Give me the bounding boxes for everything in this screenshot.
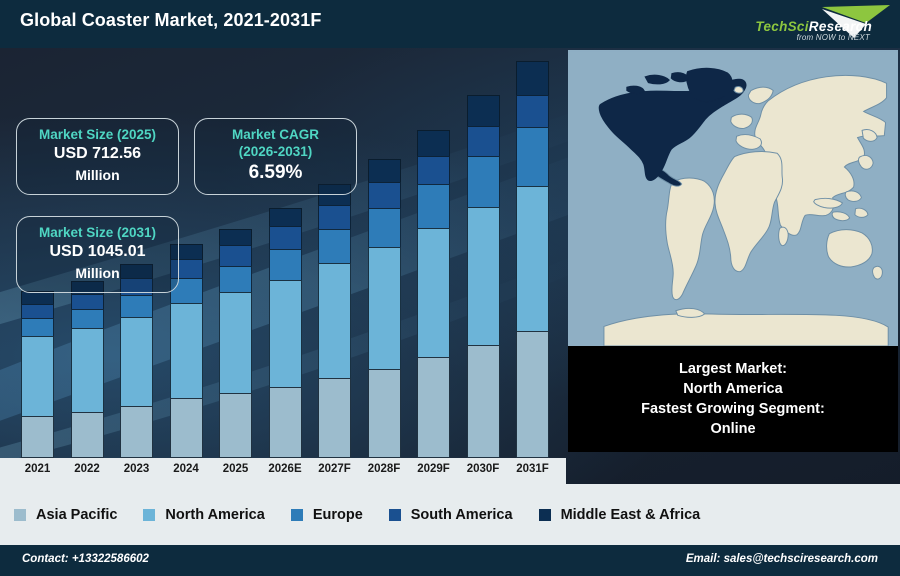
legend-item-north-america[interactable]: North America [143, 507, 264, 523]
fastest-segment-value: Online [710, 419, 755, 439]
bar-segment-north-america [318, 263, 351, 378]
legend-swatch-icon [389, 509, 401, 521]
bar-segment-asia-pacific [21, 416, 54, 458]
x-axis: 202120222023202420252026E2027F2028F2029F… [0, 458, 566, 484]
bar-segment-middle-east-africa [417, 130, 450, 157]
x-axis-label-2022: 2022 [61, 463, 113, 475]
bar-segment-europe [21, 318, 54, 336]
market-size-2031-card: Market Size (2031) USD 1045.01 Million [16, 216, 179, 293]
bar-2027F[interactable] [318, 184, 351, 458]
world-map-svg [568, 50, 898, 348]
legend-swatch-icon [291, 509, 303, 521]
bar-segment-middle-east-africa [467, 95, 500, 126]
bar-2028F[interactable] [368, 159, 401, 458]
card-label: Market Size (2025) [27, 126, 168, 143]
bar-segment-middle-east-africa [516, 61, 549, 95]
bar-segment-middle-east-africa [269, 208, 302, 226]
bar-2031F[interactable] [516, 61, 549, 458]
footer-contact: Contact: +13322586602 [22, 553, 149, 565]
bar-segment-south-america [219, 245, 252, 265]
techsci-research-logo: TechSciResearch from NOW to NEXT [714, 2, 894, 46]
bar-segment-asia-pacific [219, 393, 252, 458]
infographic-root: Global Coaster Market, 2021-2031F TechSc… [0, 0, 900, 576]
bar-segment-europe [417, 184, 450, 227]
bar-segment-south-america [417, 156, 450, 184]
bar-segment-south-america [516, 95, 549, 127]
bar-2026E[interactable] [269, 208, 302, 458]
bar-2025[interactable] [219, 229, 252, 458]
x-axis-label-2028F: 2028F [358, 463, 410, 475]
legend-label: Europe [313, 507, 363, 523]
card-value: 6.59% [205, 160, 346, 185]
bar-segment-north-america [120, 317, 153, 406]
bar-segment-europe [318, 229, 351, 263]
legend-item-south-america[interactable]: South America [389, 507, 513, 523]
legend-label: North America [165, 507, 264, 523]
fastest-segment-label: Fastest Growing Segment: [641, 399, 825, 419]
bar-segment-europe [71, 309, 104, 328]
logo-wordmark: TechSciResearch [755, 19, 872, 34]
market-size-2025-card: Market Size (2025) USD 712.56 Million [16, 118, 179, 195]
x-axis-label-2023: 2023 [111, 463, 163, 475]
legend-label: South America [411, 507, 513, 523]
bar-segment-north-america [516, 186, 549, 331]
bar-segment-south-america [467, 126, 500, 157]
bar-segment-europe [516, 127, 549, 186]
world-map [568, 50, 898, 348]
legend-swatch-icon [143, 509, 155, 521]
logo-tagline: from NOW to NEXT [797, 33, 870, 42]
x-axis-label-2029F: 2029F [408, 463, 460, 475]
bar-segment-north-america [368, 247, 401, 369]
bar-segment-europe [120, 295, 153, 317]
card-label: Market Size (2031) [27, 224, 168, 241]
bar-segment-asia-pacific [120, 406, 153, 458]
bar-segment-north-america [269, 280, 302, 387]
card-label-period: (2026-2031) [205, 143, 346, 160]
legend-label: Middle East & Africa [561, 507, 701, 523]
bar-segment-europe [219, 266, 252, 293]
header-bar: Global Coaster Market, 2021-2031F TechSc… [0, 0, 900, 48]
x-axis-label-2027F: 2027F [309, 463, 361, 475]
x-axis-label-2025: 2025 [210, 463, 262, 475]
footer-bar: Contact: +13322586602 Email: sales@techs… [0, 545, 900, 576]
x-axis-label-2021: 2021 [12, 463, 64, 475]
legend-swatch-icon [539, 509, 551, 521]
bar-segment-middle-east-africa [219, 229, 252, 246]
logo-brand-secondary: Research [809, 19, 872, 34]
bar-segment-asia-pacific [71, 412, 104, 458]
bar-2021[interactable] [21, 291, 54, 458]
chart-panel: 202120222023202420252026E2027F2028F2029F… [0, 48, 900, 545]
legend-item-asia-pacific[interactable]: Asia Pacific [14, 507, 117, 523]
x-axis-label-2030F: 2030F [457, 463, 509, 475]
legend-label: Asia Pacific [36, 507, 117, 523]
footer-email: Email: sales@techsciresearch.com [686, 553, 878, 565]
largest-market-label: Largest Market: [679, 359, 787, 379]
card-value: USD 712.56 [27, 143, 168, 165]
page-title: Global Coaster Market, 2021-2031F [20, 10, 321, 31]
x-axis-label-2026E: 2026E [259, 463, 311, 475]
bar-segment-middle-east-africa [21, 291, 54, 304]
bar-segment-europe [269, 249, 302, 280]
bar-segment-north-america [71, 328, 104, 412]
bar-segment-north-america [467, 207, 500, 345]
bar-segment-asia-pacific [467, 345, 500, 458]
x-axis-label-2024: 2024 [160, 463, 212, 475]
bar-2030F[interactable] [467, 95, 500, 458]
bar-segment-europe [368, 208, 401, 246]
card-label: Market CAGR [205, 126, 346, 143]
bar-segment-south-america [318, 205, 351, 229]
x-axis-label-2031F: 2031F [507, 463, 559, 475]
bar-segment-asia-pacific [318, 378, 351, 458]
largest-market-value: North America [683, 379, 782, 399]
bar-segment-south-america [368, 182, 401, 209]
bar-segment-south-america [71, 294, 104, 309]
card-value: USD 1045.01 [27, 241, 168, 263]
legend-item-europe[interactable]: Europe [291, 507, 363, 523]
card-unit: Million [27, 263, 168, 283]
bar-segment-south-america [21, 304, 54, 318]
chart-legend: Asia PacificNorth AmericaEuropeSouth Ame… [0, 484, 900, 545]
bar-segment-europe [467, 156, 500, 207]
bar-segment-asia-pacific [269, 387, 302, 458]
legend-item-middle-east-africa[interactable]: Middle East & Africa [539, 507, 701, 523]
key-findings-callout: Largest Market: North America Fastest Gr… [568, 346, 898, 452]
bar-2029F[interactable] [417, 130, 450, 458]
logo-brand-primary: TechSci [755, 19, 808, 34]
bar-segment-north-america [219, 292, 252, 393]
bar-2022[interactable] [71, 281, 104, 458]
market-cagr-card: Market CAGR (2026-2031) 6.59% [194, 118, 357, 195]
bar-segment-north-america [170, 303, 203, 398]
bar-2023[interactable] [120, 264, 153, 458]
bar-segment-asia-pacific [368, 369, 401, 458]
legend-swatch-icon [14, 509, 26, 521]
bar-segment-asia-pacific [417, 357, 450, 458]
bar-segment-south-america [269, 226, 302, 249]
bar-segment-middle-east-africa [368, 159, 401, 182]
bar-segment-asia-pacific [516, 331, 549, 458]
bar-segment-asia-pacific [170, 398, 203, 458]
card-unit: Million [27, 165, 168, 185]
bar-segment-north-america [21, 336, 54, 416]
bar-segment-north-america [417, 228, 450, 358]
